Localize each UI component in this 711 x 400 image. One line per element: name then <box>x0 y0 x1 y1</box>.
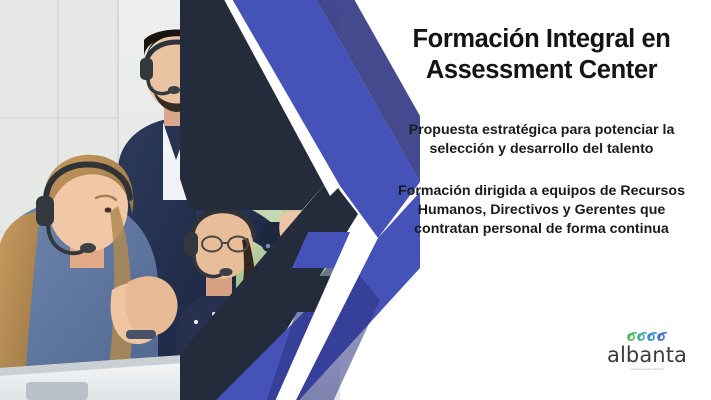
title-line-1: Formación Integral en <box>413 25 671 53</box>
content-panel: Formación Integral en Assessment Center … <box>372 0 711 400</box>
presentation-slide: Formación Integral en Assessment Center … <box>0 0 711 400</box>
albanta-logo: albanta consultores de talento <box>601 329 693 372</box>
subtitle-paragraph-1: Propuesta estratégica para potenciar la … <box>386 121 697 159</box>
albanta-swirl-mark-icon <box>626 329 668 344</box>
team-photo <box>0 0 340 400</box>
logo-tagline: consultores de talento <box>601 368 693 372</box>
subtitle-paragraph-2: Formación dirigida a equipos de Recursos… <box>386 182 697 239</box>
team-photo-illustration <box>0 0 340 400</box>
logo-wordmark: albanta <box>601 345 693 366</box>
page-title: Formación Integral en Assessment Center <box>386 24 697 86</box>
title-line-2: Assessment Center <box>426 56 657 84</box>
